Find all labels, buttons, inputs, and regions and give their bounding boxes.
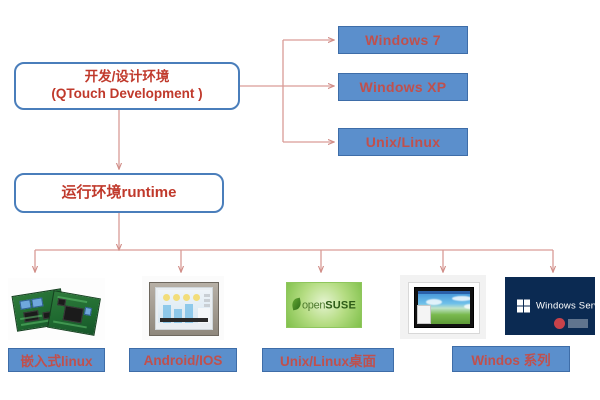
target-label-windows-series[interactable]: Windos 系列 (452, 346, 570, 372)
dev-platform-unix-linux[interactable]: Unix/Linux (338, 128, 468, 156)
opensuse-leaf-icon (291, 298, 302, 311)
xp-panel-frame (408, 282, 480, 334)
hmi-touch-panel-photo (142, 276, 224, 340)
target-label-text: Android/IOS (144, 353, 223, 368)
hmi-screen (158, 290, 210, 323)
xp-screen-bezel (414, 287, 474, 328)
opensuse-gradient-background: openSUSE (286, 282, 362, 328)
dev-env-line-1: 开发/设计环境 (51, 69, 202, 86)
target-label-text: 嵌入式linux (20, 350, 92, 370)
pcb-board-right (47, 290, 101, 336)
runtime-label: 运行环境runtime (61, 184, 176, 203)
opensuse-open-text: open (302, 300, 325, 312)
node-development-environment[interactable]: 开发/设计环境 (QTouch Development ) (14, 62, 240, 110)
target-label-android-ios[interactable]: Android/IOS (129, 348, 237, 372)
target-label-text: Windos 系列 (471, 349, 550, 369)
windows-server-lockup: Windows Server 2012 (517, 300, 595, 313)
opensuse-wordmark: openSUSE (287, 299, 361, 312)
windows-xp-panel-photo (400, 275, 486, 339)
windows-server-2012-logo: Windows Server 2012 (505, 277, 595, 335)
badge-mark-icon (554, 318, 565, 329)
target-label-embedded-linux[interactable]: 嵌入式linux (8, 348, 105, 372)
dev-platform-label: Windows 7 (365, 32, 441, 48)
target-label-text: Unix/Linux桌面 (280, 350, 376, 370)
windows-server-text: Windows Server 2012 (536, 301, 595, 312)
hmi-inner-frame (155, 287, 213, 330)
badge-text-block (568, 319, 588, 328)
dev-platform-label: Windows XP (360, 79, 447, 95)
dev-platform-windows-xp[interactable]: Windows XP (338, 73, 468, 101)
embedded-pcb-photo (8, 278, 105, 340)
dev-env-line-2: (QTouch Development ) (51, 86, 202, 103)
dev-platform-windows-7[interactable]: Windows 7 (338, 26, 468, 54)
node-runtime-environment[interactable]: 运行环境runtime (14, 173, 224, 213)
xp-side-tab (417, 305, 431, 324)
dev-platform-label: Unix/Linux (366, 134, 441, 150)
diagram-canvas: 开发/设计环境 (QTouch Development ) 运行环境runtim… (0, 0, 600, 400)
windows-server-badge (554, 318, 588, 329)
target-label-unix-linux-desktop[interactable]: Unix/Linux桌面 (262, 348, 394, 372)
windows-flag-icon (517, 300, 530, 313)
hmi-bezel (149, 282, 219, 336)
opensuse-logo-image: openSUSE (280, 276, 368, 336)
opensuse-suse-text: SUSE (325, 300, 356, 312)
